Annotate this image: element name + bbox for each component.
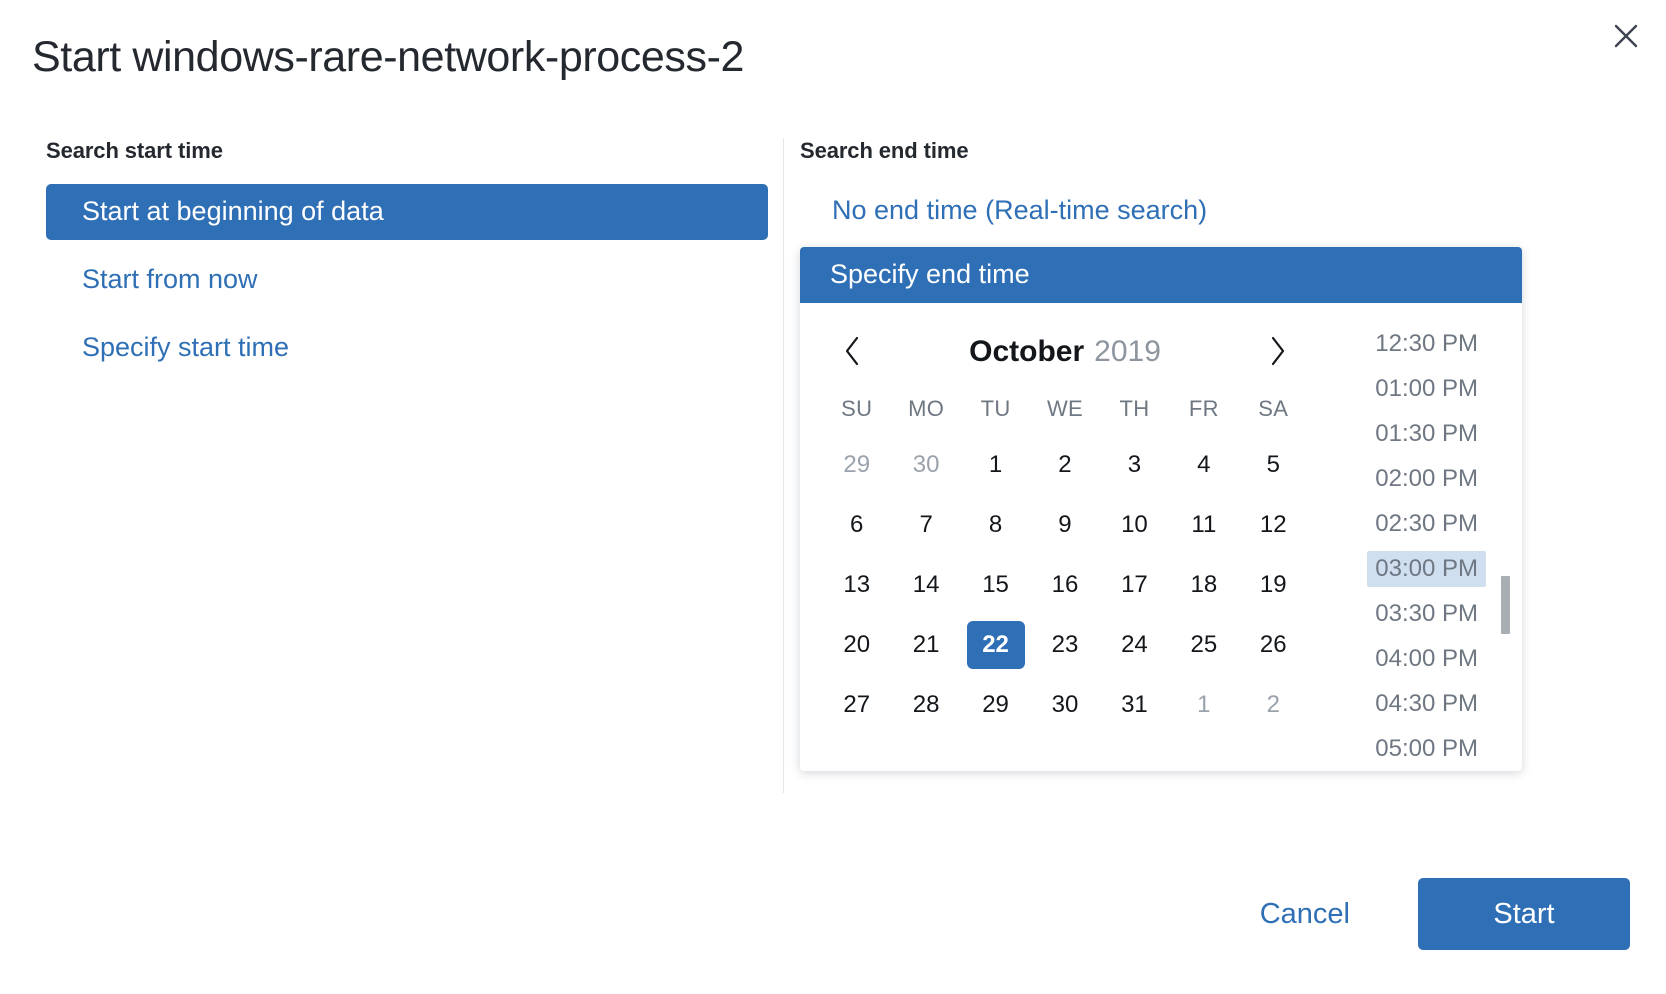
calendar-day-label: 4	[1175, 441, 1233, 489]
calendar-month-year: October2019	[872, 335, 1258, 369]
dialog-body: Search start time Start at beginning of …	[0, 138, 1666, 818]
calendar-day-label: 29	[967, 681, 1025, 729]
time-option-label: 04:30 PM	[1367, 686, 1486, 722]
calendar-day-8[interactable]: 8	[961, 495, 1030, 555]
calendar-day-30[interactable]: 30	[891, 435, 960, 495]
time-option-04-30-pm[interactable]: 04:30 PM	[1330, 681, 1488, 726]
calendar-day-label: 12	[1244, 501, 1302, 549]
calendar-day-label: 29	[828, 441, 886, 489]
calendar-day-2[interactable]: 2	[1030, 435, 1099, 495]
cancel-button[interactable]: Cancel	[1232, 884, 1378, 945]
calendar-day-label: 16	[1036, 561, 1094, 609]
calendar-day-4[interactable]: 4	[1169, 435, 1238, 495]
calendar-day-label: 23	[1036, 621, 1094, 669]
calendar-day-7[interactable]: 7	[891, 495, 960, 555]
close-button[interactable]	[1604, 14, 1648, 58]
calendar-grid: SUMOTUWETHFRSA29301234567891011121314151…	[806, 383, 1324, 735]
time-list[interactable]: 12:30 PM01:00 PM01:30 PM02:00 PM02:30 PM…	[1330, 321, 1522, 771]
calendar-day-label: 5	[1244, 441, 1302, 489]
calendar-day-30[interactable]: 30	[1030, 675, 1099, 735]
calendar-day-label: 30	[897, 441, 955, 489]
calendar-day-31[interactable]: 31	[1100, 675, 1169, 735]
calendar-day-11[interactable]: 11	[1169, 495, 1238, 555]
calendar-weekday-su: SU	[822, 383, 891, 435]
search-end-time-label: Search end time	[800, 138, 1666, 164]
start-option-beginning-of-data[interactable]: Start at beginning of data	[46, 184, 768, 240]
calendar-day-25[interactable]: 25	[1169, 615, 1238, 675]
end-time-picker-card: Specify end time	[800, 247, 1522, 771]
calendar-day-label: 31	[1105, 681, 1163, 729]
start-option-label: Start at beginning of data	[82, 196, 384, 226]
time-list-panel: 12:30 PM01:00 PM01:30 PM02:00 PM02:30 PM…	[1330, 303, 1522, 771]
calendar-day-label: 1	[967, 441, 1025, 489]
calendar-day-19[interactable]: 19	[1239, 555, 1308, 615]
calendar-day-label: 2	[1036, 441, 1094, 489]
calendar-day-1[interactable]: 1	[1169, 675, 1238, 735]
calendar-day-18[interactable]: 18	[1169, 555, 1238, 615]
end-option-no-end-time[interactable]: No end time (Real-time search)	[800, 184, 1666, 237]
calendar-day-29[interactable]: 29	[822, 435, 891, 495]
start-option-label: Start from now	[82, 264, 258, 294]
calendar-day-27[interactable]: 27	[822, 675, 891, 735]
time-option-12-30-pm[interactable]: 12:30 PM	[1330, 321, 1488, 366]
calendar-day-21[interactable]: 21	[891, 615, 960, 675]
start-button[interactable]: Start	[1418, 878, 1630, 950]
time-option-label: 02:00 PM	[1367, 461, 1486, 497]
calendar-month: October	[969, 335, 1084, 368]
time-option-label: 01:30 PM	[1367, 416, 1486, 452]
calendar-day-label: 28	[897, 681, 955, 729]
calendar-day-label: 7	[897, 501, 955, 549]
close-icon	[1613, 23, 1639, 49]
calendar-day-label: 15	[967, 561, 1025, 609]
search-end-time-column: Search end time No end time (Real-time s…	[784, 138, 1666, 818]
search-start-time-label: Search start time	[46, 138, 767, 164]
time-option-04-00-pm[interactable]: 04:00 PM	[1330, 636, 1488, 681]
calendar-day-29[interactable]: 29	[961, 675, 1030, 735]
calendar-nav: October2019	[806, 321, 1324, 383]
calendar-day-2[interactable]: 2	[1239, 675, 1308, 735]
calendar-day-label: 26	[1244, 621, 1302, 669]
calendar-day-15[interactable]: 15	[961, 555, 1030, 615]
calendar-weekday-sa: SA	[1239, 383, 1308, 435]
calendar-day-23[interactable]: 23	[1030, 615, 1099, 675]
calendar-day-label: 1	[1175, 681, 1233, 729]
calendar-day-12[interactable]: 12	[1239, 495, 1308, 555]
calendar-day-label: 30	[1036, 681, 1094, 729]
calendar-day-22[interactable]: 22	[961, 615, 1030, 675]
calendar-day-label: 20	[828, 621, 886, 669]
time-option-01-00-pm[interactable]: 01:00 PM	[1330, 366, 1488, 411]
start-search-dialog: Start windows-rare-network-process-2 Sea…	[0, 0, 1666, 994]
calendar-day-label: 3	[1105, 441, 1163, 489]
calendar-day-13[interactable]: 13	[822, 555, 891, 615]
calendar-day-20[interactable]: 20	[822, 615, 891, 675]
time-option-02-00-pm[interactable]: 02:00 PM	[1330, 456, 1488, 501]
calendar-day-label: 17	[1105, 561, 1163, 609]
end-option-label: No end time (Real-time search)	[832, 195, 1207, 225]
calendar-day-26[interactable]: 26	[1239, 615, 1308, 675]
calendar-day-5[interactable]: 5	[1239, 435, 1308, 495]
calendar-day-label: 9	[1036, 501, 1094, 549]
calendar-next-month-button[interactable]	[1258, 332, 1298, 372]
picker-body: October2019 SUMOTUWETHFRSA2930123456	[800, 303, 1522, 771]
calendar-day-label: 25	[1175, 621, 1233, 669]
calendar-day-label: 27	[828, 681, 886, 729]
calendar-day-6[interactable]: 6	[822, 495, 891, 555]
calendar-day-16[interactable]: 16	[1030, 555, 1099, 615]
calendar-day-28[interactable]: 28	[891, 675, 960, 735]
calendar: October2019 SUMOTUWETHFRSA2930123456	[800, 303, 1330, 771]
chevron-left-icon	[843, 336, 861, 369]
time-option-label: 01:00 PM	[1367, 371, 1486, 407]
end-option-label: Specify end time	[830, 259, 1030, 289]
calendar-day-14[interactable]: 14	[891, 555, 960, 615]
page-title: Start windows-rare-network-process-2	[32, 32, 744, 84]
start-option-label: Specify start time	[82, 332, 289, 362]
dialog-footer: Cancel Start	[1232, 878, 1630, 950]
calendar-day-24[interactable]: 24	[1100, 615, 1169, 675]
time-option-05-00-pm[interactable]: 05:00 PM	[1330, 726, 1488, 771]
calendar-day-10[interactable]: 10	[1100, 495, 1169, 555]
time-option-label: 05:00 PM	[1367, 731, 1486, 767]
calendar-day-label: 14	[897, 561, 955, 609]
time-option-label: 12:30 PM	[1367, 326, 1486, 362]
calendar-day-label: 11	[1175, 501, 1233, 549]
calendar-day-label: 13	[828, 561, 886, 609]
start-option-from-now[interactable]: Start from now	[46, 252, 768, 308]
calendar-day-label: 2	[1244, 681, 1302, 729]
calendar-day-label: 6	[828, 501, 886, 549]
calendar-prev-month-button[interactable]	[832, 332, 872, 372]
calendar-day-3[interactable]: 3	[1100, 435, 1169, 495]
time-list-scrollbar[interactable]	[1501, 321, 1510, 761]
time-option-label: 02:30 PM	[1367, 506, 1486, 542]
calendar-weekday-th: TH	[1100, 383, 1169, 435]
calendar-day-label: 24	[1105, 621, 1163, 669]
calendar-day-9[interactable]: 9	[1030, 495, 1099, 555]
calendar-weekday-we: WE	[1030, 383, 1099, 435]
time-option-01-30-pm[interactable]: 01:30 PM	[1330, 411, 1488, 456]
calendar-weekday-mo: MO	[891, 383, 960, 435]
time-option-label: 04:00 PM	[1367, 641, 1486, 677]
time-option-02-30-pm[interactable]: 02:30 PM	[1330, 501, 1488, 546]
start-option-specify-start-time[interactable]: Specify start time	[46, 320, 768, 376]
calendar-weekday-fr: FR	[1169, 383, 1238, 435]
end-option-specify-end-time[interactable]: Specify end time	[800, 247, 1522, 303]
time-option-03-30-pm[interactable]: 03:30 PM	[1330, 591, 1488, 636]
calendar-day-label: 10	[1105, 501, 1163, 549]
calendar-day-label: 8	[967, 501, 1025, 549]
calendar-day-17[interactable]: 17	[1100, 555, 1169, 615]
time-list-scrollbar-thumb[interactable]	[1501, 576, 1510, 634]
time-option-label: 03:00 PM	[1367, 551, 1486, 587]
calendar-day-label: 21	[897, 621, 955, 669]
calendar-day-label: 19	[1244, 561, 1302, 609]
calendar-year: 2019	[1094, 335, 1161, 368]
search-start-time-column: Search start time Start at beginning of …	[0, 138, 783, 818]
calendar-day-label: 18	[1175, 561, 1233, 609]
chevron-right-icon	[1269, 336, 1287, 369]
time-option-03-00-pm[interactable]: 03:00 PM	[1330, 546, 1488, 591]
calendar-weekday-tu: TU	[961, 383, 1030, 435]
calendar-day-label: 22	[967, 621, 1025, 669]
calendar-day-1[interactable]: 1	[961, 435, 1030, 495]
time-option-label: 03:30 PM	[1367, 596, 1486, 632]
